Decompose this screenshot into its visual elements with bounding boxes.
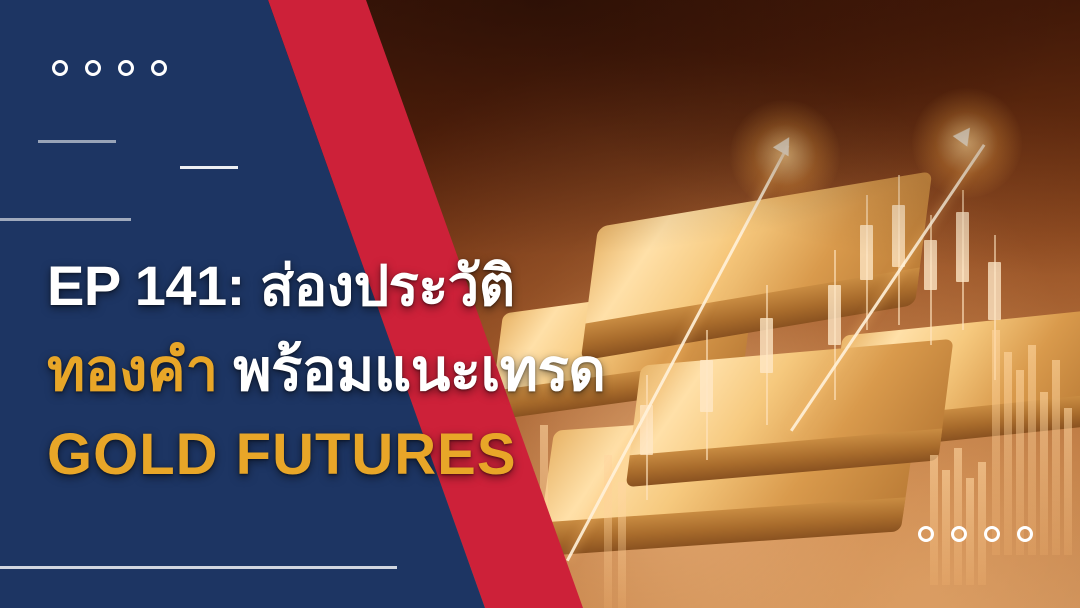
rule-bottom (0, 566, 397, 569)
circle-outline-icon (118, 60, 134, 76)
headline-line-2: ทองคำ พร้อมแนะเทรด (47, 342, 1047, 400)
circle-outline-icon (85, 60, 101, 76)
headline-line-1-thai: ส่องประวัติ (260, 254, 515, 317)
dot-cluster-top-left (52, 60, 167, 76)
rule-lower (0, 218, 131, 221)
headline-line-3: GOLD FUTURES (47, 426, 1047, 484)
circle-outline-icon (52, 60, 68, 76)
headline-gold-word: ทองคำ (47, 338, 218, 403)
dot-cluster-bottom-right (918, 526, 1033, 542)
circle-outline-icon (951, 526, 967, 542)
headline-line-2-white: พร้อมแนะเทรด (233, 338, 605, 403)
circle-outline-icon (1017, 526, 1033, 542)
rule-upper (38, 140, 116, 143)
thumbnail-canvas: EP 141: ส่องประวัติ ทองคำ พร้อมแนะเทรด G… (0, 0, 1080, 608)
circle-outline-icon (151, 60, 167, 76)
circle-outline-icon (984, 526, 1000, 542)
headline-episode-label: EP 141: (47, 254, 245, 317)
circle-outline-icon (918, 526, 934, 542)
headline-line-1: EP 141: ส่องประวัติ (47, 258, 1047, 314)
headline-block: EP 141: ส่องประวัติ ทองคำ พร้อมแนะเทรด G… (47, 258, 1047, 484)
rule-middle (180, 166, 238, 169)
